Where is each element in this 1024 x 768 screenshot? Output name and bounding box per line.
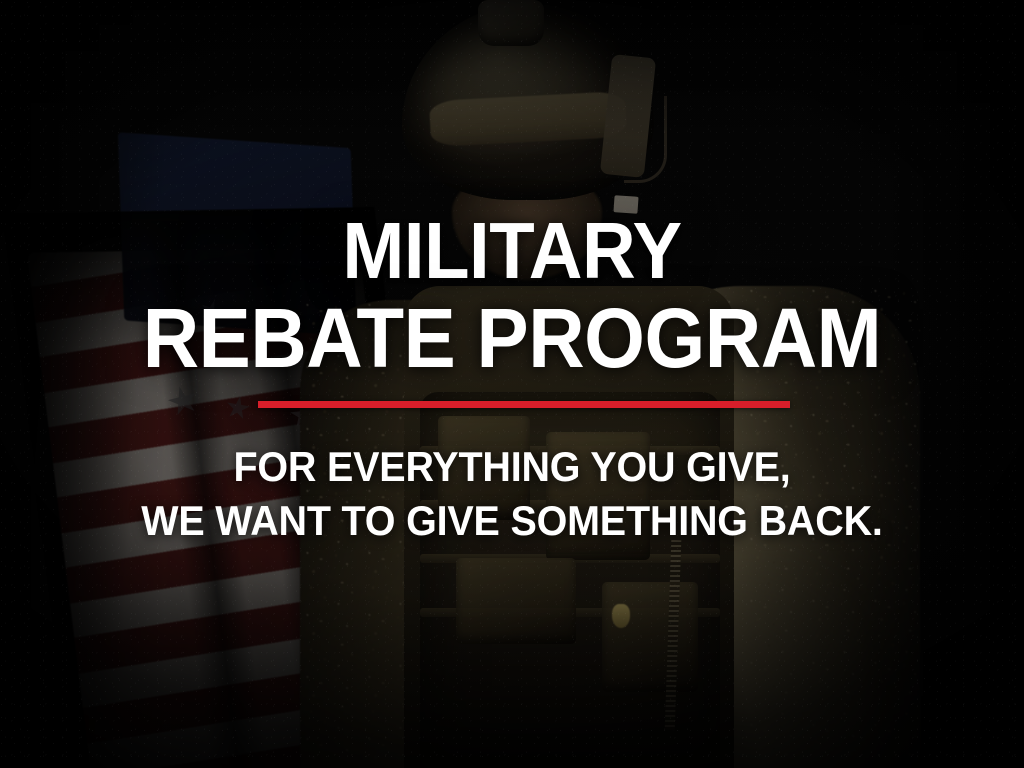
vest-pouch — [602, 582, 698, 692]
soldier-figure — [0, 0, 1024, 768]
helmet-cable — [624, 96, 667, 183]
night-vision-mount-icon — [478, 0, 544, 46]
vest-accent-detail — [612, 604, 630, 628]
military-rebate-banner: MILITARY REBATE PROGRAM FOR EVERYTHING Y… — [0, 0, 1024, 768]
helmet-id-tag — [613, 195, 638, 214]
background-photo — [0, 0, 1024, 768]
vest-pouch — [546, 432, 650, 560]
vest-pouch — [456, 558, 576, 644]
vest-pouch — [438, 416, 530, 520]
